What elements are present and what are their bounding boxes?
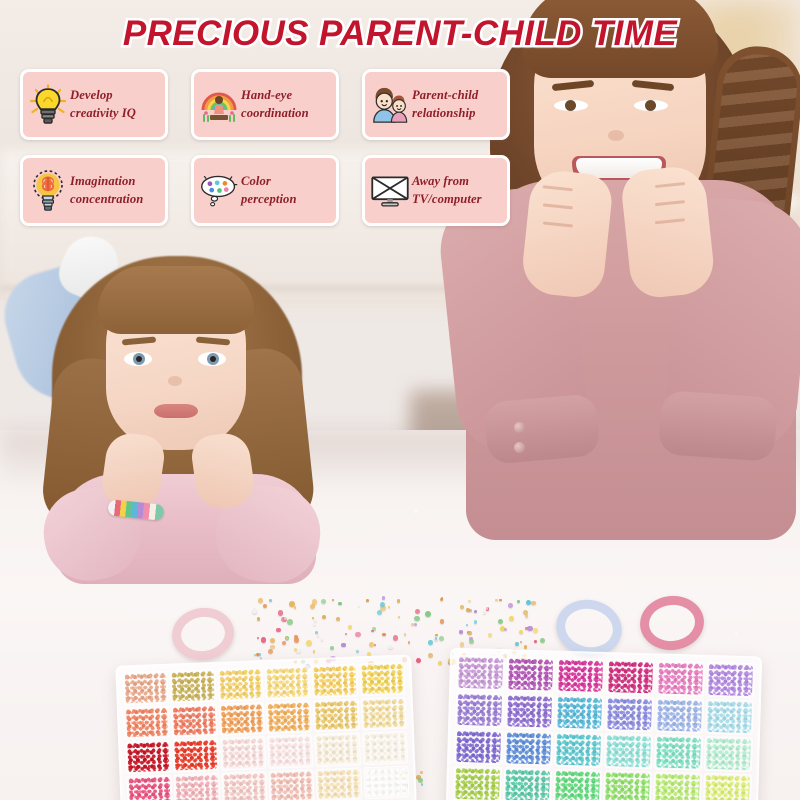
feature-card-row-1: Develop creativity IQ <box>20 69 512 140</box>
mother-hand-left <box>520 168 615 300</box>
loose-bead <box>263 604 267 608</box>
loose-bead <box>483 610 487 614</box>
bead-compartment <box>124 705 171 739</box>
bead-compartment <box>706 662 755 698</box>
lightbulb-icon <box>28 82 68 128</box>
feature-card-label: Develop creativity IQ <box>70 87 136 121</box>
bead-compartment <box>218 702 265 736</box>
loose-bead <box>404 633 407 636</box>
bead-compartment <box>267 734 314 768</box>
loose-bead <box>428 653 433 658</box>
loose-bead <box>257 617 261 621</box>
bead-compartment <box>503 767 552 800</box>
bead-compartment <box>362 731 409 765</box>
loose-bead <box>348 625 352 629</box>
bead-compartment <box>704 736 753 772</box>
feature-card-develop-creativity[interactable]: Develop creativity IQ <box>20 69 168 140</box>
feature-card-row-2: Imagination concentration <box>20 155 512 226</box>
color-palette-bubble-icon <box>199 168 239 214</box>
feature-card-grid: Develop creativity IQ <box>20 69 512 241</box>
bead-compartment <box>656 660 705 696</box>
loose-bead <box>270 638 275 643</box>
mother-cuff-button-bottom <box>514 442 525 453</box>
bead-compartment <box>504 730 553 766</box>
girl-eye-right <box>198 352 226 366</box>
feature-card-color-perception[interactable]: Color perception <box>191 155 339 226</box>
girl-nose <box>168 376 182 386</box>
girl-child <box>10 238 370 568</box>
bead-compartment <box>264 665 311 699</box>
feature-card-imagination-concentration[interactable]: Imagination concentration <box>20 155 168 226</box>
headline-banner: PRECIOUS PARENT-CHILD TIME <box>0 14 800 54</box>
parent-child-icon <box>370 82 410 128</box>
feature-card-parent-child-relationship[interactable]: Parent-child relationship <box>362 69 510 140</box>
mother-eye-left <box>554 100 588 111</box>
loose-bead <box>418 778 423 783</box>
loose-bead <box>509 616 514 621</box>
feature-card-away-from-tv[interactable]: Away from TV/computer <box>362 155 510 226</box>
bead-compartment <box>553 769 602 800</box>
loose-bead <box>531 601 535 605</box>
mother-nose <box>608 130 624 141</box>
mother-hand-right <box>620 164 717 300</box>
loose-bead <box>428 640 432 644</box>
loose-bead <box>459 630 463 634</box>
loose-bead <box>276 628 281 633</box>
bead-compartment <box>268 769 315 800</box>
bead-compartment <box>606 659 655 695</box>
bead-compartment <box>603 770 652 800</box>
loose-bead <box>440 619 444 623</box>
bead-compartment <box>605 696 654 732</box>
loose-bead <box>408 641 411 644</box>
loose-bead <box>540 638 545 643</box>
no-tv-icon <box>370 168 410 214</box>
cool-tone-bead-box <box>446 648 762 800</box>
loose-bead <box>371 630 374 633</box>
loose-bead <box>533 628 538 633</box>
loose-bead <box>380 602 385 607</box>
bead-compartment <box>453 766 502 800</box>
loose-bead <box>435 637 438 640</box>
bead-compartment <box>266 700 313 734</box>
bead-compartment <box>171 703 218 737</box>
feature-card-label: Hand-eye coordination <box>241 87 309 121</box>
loose-bead <box>425 611 431 617</box>
mother-cuff-left <box>484 393 601 465</box>
bead-compartment <box>221 771 268 800</box>
loose-bead <box>366 599 369 602</box>
loose-bead <box>527 626 533 632</box>
loose-bead <box>495 599 497 601</box>
loose-bead <box>356 650 359 653</box>
mother-cuff-button-top <box>514 422 525 433</box>
bead-compartment <box>703 773 752 800</box>
bead-compartment <box>360 696 407 730</box>
bead-compartment <box>312 663 359 697</box>
loose-bead <box>294 637 300 643</box>
loose-bead <box>341 643 346 648</box>
bead-compartment <box>604 733 653 769</box>
brain-bulb-icon <box>28 168 68 214</box>
loose-bead <box>306 640 312 646</box>
loose-bead <box>515 642 519 646</box>
bead-compartment <box>314 732 361 766</box>
feature-card-label: Away from TV/computer <box>412 173 482 207</box>
loose-bead <box>289 601 295 607</box>
bead-compartment <box>363 765 410 799</box>
girl-eye-left <box>124 352 152 366</box>
loose-bead <box>441 597 444 600</box>
loose-bead <box>268 649 273 654</box>
feature-card-label: Imagination concentration <box>70 173 143 207</box>
bead-compartment <box>170 669 217 703</box>
loose-bead <box>525 614 529 618</box>
bead-compartment <box>220 736 267 770</box>
bead-compartment <box>456 655 505 691</box>
feature-card-hand-eye-coordination[interactable]: Hand-eye coordination <box>191 69 339 140</box>
loose-bead <box>336 617 340 621</box>
bead-compartment <box>506 656 555 692</box>
feature-card-label: Parent-child relationship <box>412 87 478 121</box>
loose-bead <box>355 632 361 638</box>
bead-compartment <box>505 693 554 729</box>
loose-bead <box>460 642 464 646</box>
bead-compartment <box>172 738 219 772</box>
loose-bead <box>420 771 423 774</box>
bead-compartment <box>654 734 703 770</box>
loose-bead <box>338 602 341 605</box>
product-infographic: PRECIOUS PARENT-CHILD TIME <box>0 0 800 800</box>
girl-mouth <box>154 404 198 418</box>
loose-bead <box>261 637 266 642</box>
loose-bead <box>312 617 314 619</box>
loose-bead <box>414 616 420 622</box>
loose-bead <box>488 633 492 637</box>
loose-bead <box>388 645 392 649</box>
mother-eye-right <box>634 100 668 111</box>
bead-compartment <box>316 767 363 800</box>
loose-bead <box>466 608 470 612</box>
loose-bead <box>508 603 513 608</box>
bead-compartment <box>359 662 406 696</box>
loose-bead <box>382 633 385 636</box>
bead-compartment <box>556 658 605 694</box>
loose-bead <box>398 616 400 618</box>
page-title: PRECIOUS PARENT-CHILD TIME <box>123 14 677 54</box>
loose-bead <box>474 620 477 623</box>
feature-card-label: Color perception <box>241 173 297 207</box>
mother-cuff-right <box>658 390 778 462</box>
bead-compartment <box>313 698 360 732</box>
bead-compartment <box>217 667 264 701</box>
bead-compartment <box>653 771 702 800</box>
bead-compartment <box>125 740 172 774</box>
loose-bead <box>439 636 444 641</box>
rainbow-icon <box>199 82 239 128</box>
bead-compartment <box>174 772 221 800</box>
bead-compartment <box>555 695 604 731</box>
bead-compartment <box>455 692 504 728</box>
bead-compartment <box>655 697 704 733</box>
bead-compartment <box>705 699 754 735</box>
warm-tone-bead-box <box>115 654 417 800</box>
loose-bead <box>269 599 272 602</box>
bead-compartment <box>122 671 169 705</box>
bead-compartment <box>126 774 173 800</box>
girl-fringe <box>98 266 254 334</box>
bead-compartment <box>454 729 503 765</box>
bead-compartment <box>554 732 603 768</box>
loose-bead <box>393 635 399 641</box>
